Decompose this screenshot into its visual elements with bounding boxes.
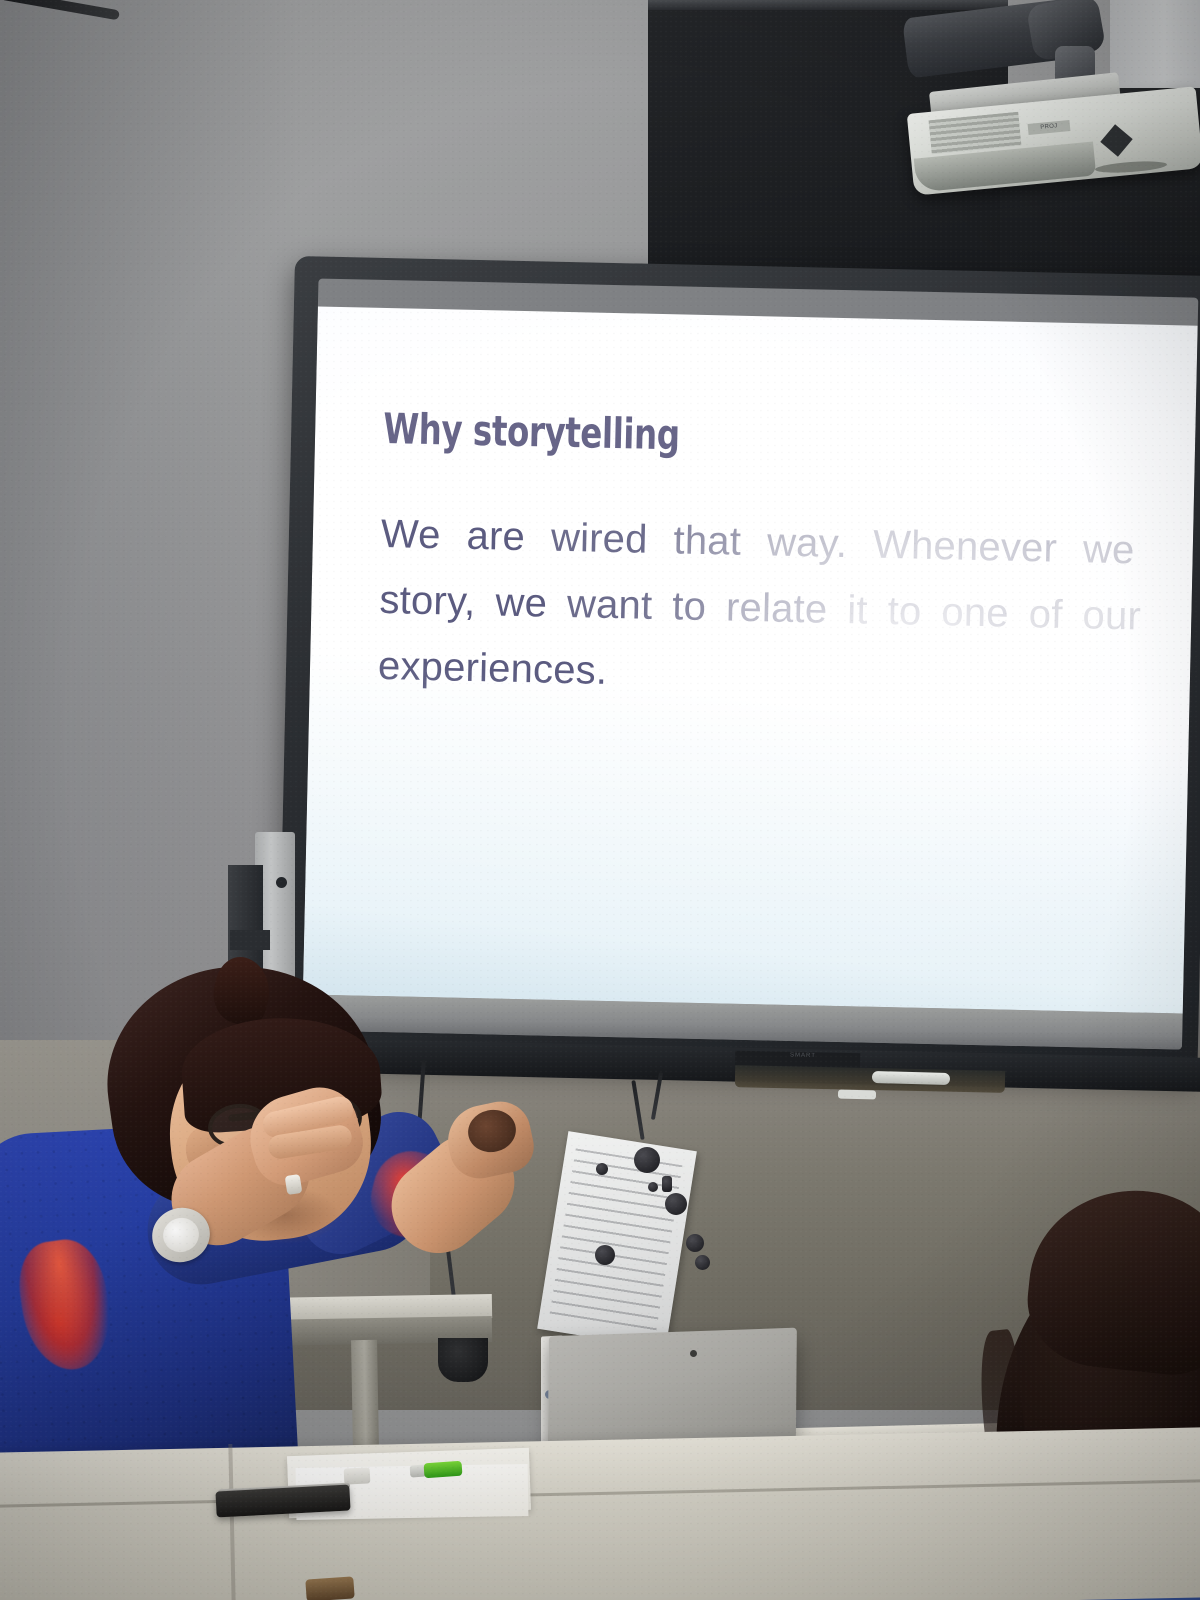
whiteboard-surface[interactable]: Why storytelling Wearewiredthatway.Whene…: [302, 279, 1198, 1050]
desk-small-object: [305, 1576, 354, 1600]
tablet-rear-camera-icon: [690, 1350, 697, 1357]
classroom-photo: PROJ Why storytelling Wearewiredthatway.…: [0, 0, 1200, 1600]
projected-screen-area: Why storytelling Wearewiredthatway.Whene…: [303, 307, 1198, 1014]
magnet-dot: [648, 1182, 658, 1192]
magnet-dot: [634, 1147, 660, 1173]
front-desk-surface: [0, 1427, 1200, 1600]
whiteboard-marker-secondary[interactable]: [838, 1090, 876, 1100]
magnet-dot: [686, 1234, 704, 1252]
whiteboard-marker[interactable]: [872, 1071, 950, 1085]
green-marker[interactable]: [424, 1461, 463, 1479]
magnet-dot: [662, 1176, 672, 1192]
magnet-dot: [665, 1193, 687, 1215]
magnet-dot: [596, 1163, 608, 1175]
magnet-dot: [595, 1245, 615, 1265]
wall-mount-hole: [276, 877, 287, 888]
pen-tray-brand-label: SMART: [790, 1052, 850, 1061]
magnet-dot: [695, 1255, 710, 1270]
ceiling-panel-edge: [648, 0, 1008, 10]
screen-glow-overlay: [303, 307, 1198, 1014]
finger-ring: [285, 1174, 303, 1195]
